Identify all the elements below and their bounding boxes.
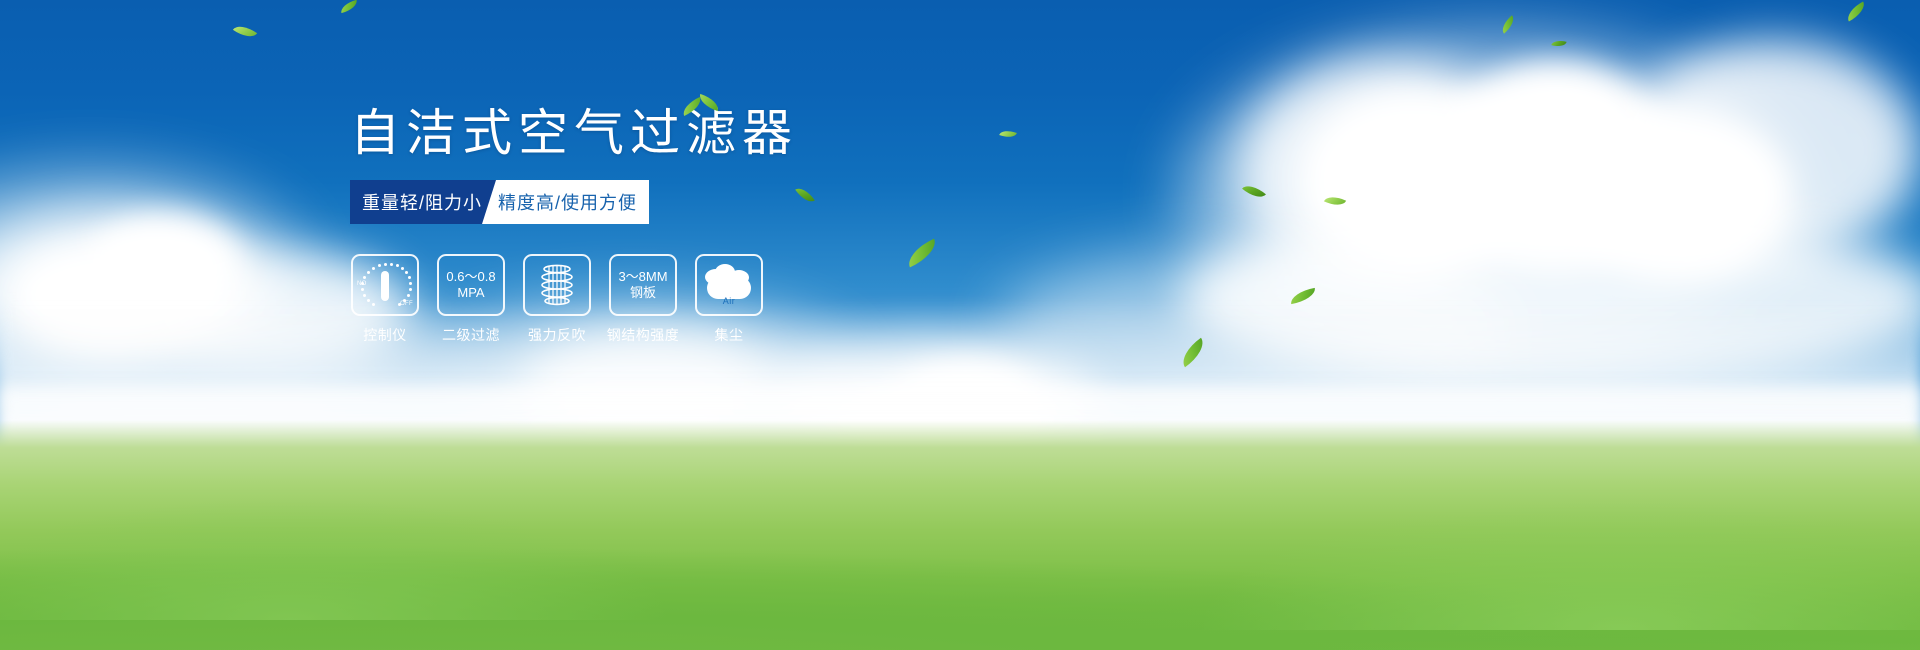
leaf-icon (233, 21, 257, 43)
badge-left-label: 重量轻/阻力小 (350, 180, 496, 224)
leaf-sprout-icon (681, 95, 727, 121)
dial-off-label: OFF (400, 301, 413, 307)
leaf-icon (999, 128, 1017, 141)
feature-item-dust-collection[interactable]: Air 集尘 (694, 254, 764, 345)
leaf-icon (1844, 1, 1869, 21)
feature-icon-box: NO OFF (351, 254, 419, 316)
feature-list: NO OFF (350, 254, 970, 345)
feature-badge: 重量轻/阻力小 精度高/使用方便 (350, 180, 668, 224)
feature-label: 控制仪 (363, 325, 407, 345)
air-label: Air (723, 296, 736, 306)
power-dial-icon: NO OFF (358, 260, 412, 310)
feature-label: 钢结构强度 (607, 325, 680, 345)
feature-icon-box: 0.6～0.8 MPA (437, 254, 505, 316)
feature-item-steel-structure-strength[interactable]: 3～8MM 钢板 钢结构强度 (608, 254, 678, 345)
feature-item-two-stage-filtration[interactable]: 0.6～0.8 MPA 二级过滤 (436, 254, 506, 345)
pressure-text-icon: 0.6～0.8 MPA (446, 269, 495, 301)
feature-item-strong-backblow[interactable]: 强力反吹 (522, 254, 592, 345)
feature-icon-box (523, 254, 591, 316)
feature-label: 强力反吹 (528, 325, 586, 345)
air-cloud-icon: Air (703, 263, 755, 307)
leaf-icon (339, 0, 359, 13)
banner-content: 自洁式空气过滤器 重量轻/阻力小 精度高/使用方便 NO OFF (350, 108, 970, 345)
badge-right-label: 精度高/使用方便 (482, 180, 649, 224)
feature-label: 集尘 (715, 325, 744, 345)
page-title: 自洁式空气过滤器 (350, 108, 970, 158)
feature-label: 二级过滤 (442, 325, 500, 345)
steel-plate-text-icon: 3～8MM 钢板 (618, 269, 667, 301)
feature-icon-box: Air (695, 254, 763, 316)
product-banner: 自洁式空气过滤器 重量轻/阻力小 精度高/使用方便 NO OFF (0, 0, 1920, 650)
feature-item-controller[interactable]: NO OFF (350, 254, 420, 345)
feature-icon-box: 3～8MM 钢板 (609, 254, 677, 316)
filter-cartridge-icon (535, 262, 579, 308)
